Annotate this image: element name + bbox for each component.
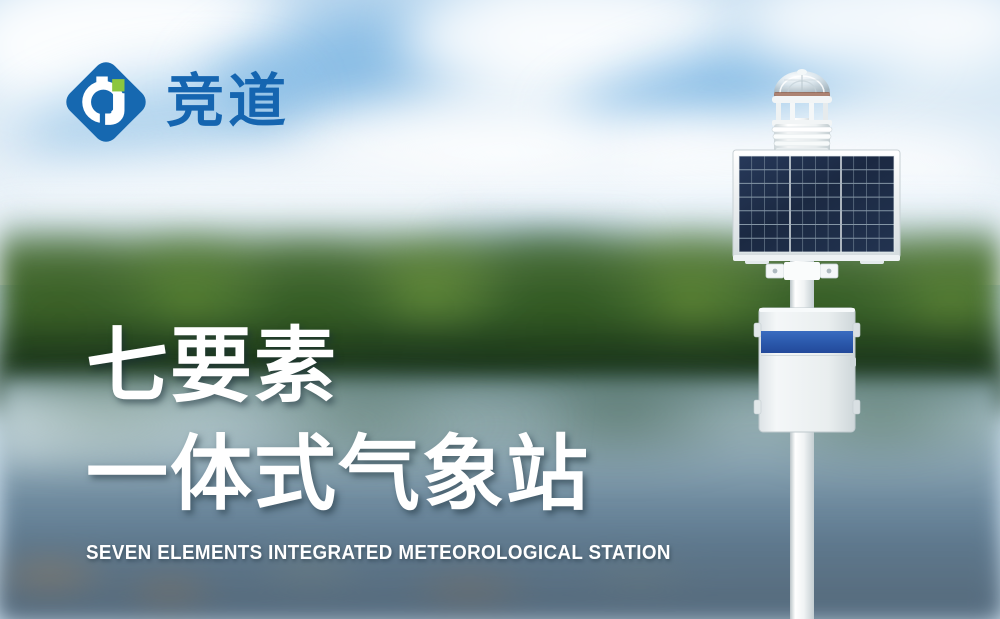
product-banner: 竞道 七要素 一体式气象站 SEVEN ELEMENTS INTEGRATED … [0, 0, 1000, 619]
weather-station-device: 气象环境监测站 [700, 0, 1000, 619]
weather-station-illustration [700, 0, 1000, 619]
headline-line-1: 七要素 [86, 324, 590, 411]
solar-panel [733, 150, 900, 264]
control-enclosure [754, 308, 860, 432]
headline-line-2: 一体式气象站 [86, 432, 590, 519]
mounting-bracket [766, 262, 838, 280]
subtitle: SEVEN ELEMENTS INTEGRATED METEOROLOGICAL… [86, 542, 671, 565]
brand-logo: 竞道 [62, 58, 290, 146]
headline: 七要素 一体式气象站 [86, 324, 590, 519]
dome-rain-sensor [772, 69, 832, 103]
brand-name: 竞道 [166, 73, 290, 131]
jingdao-logo-icon [62, 58, 150, 146]
enclosure-label-band [761, 331, 853, 353]
wind-sensor [772, 103, 832, 126]
